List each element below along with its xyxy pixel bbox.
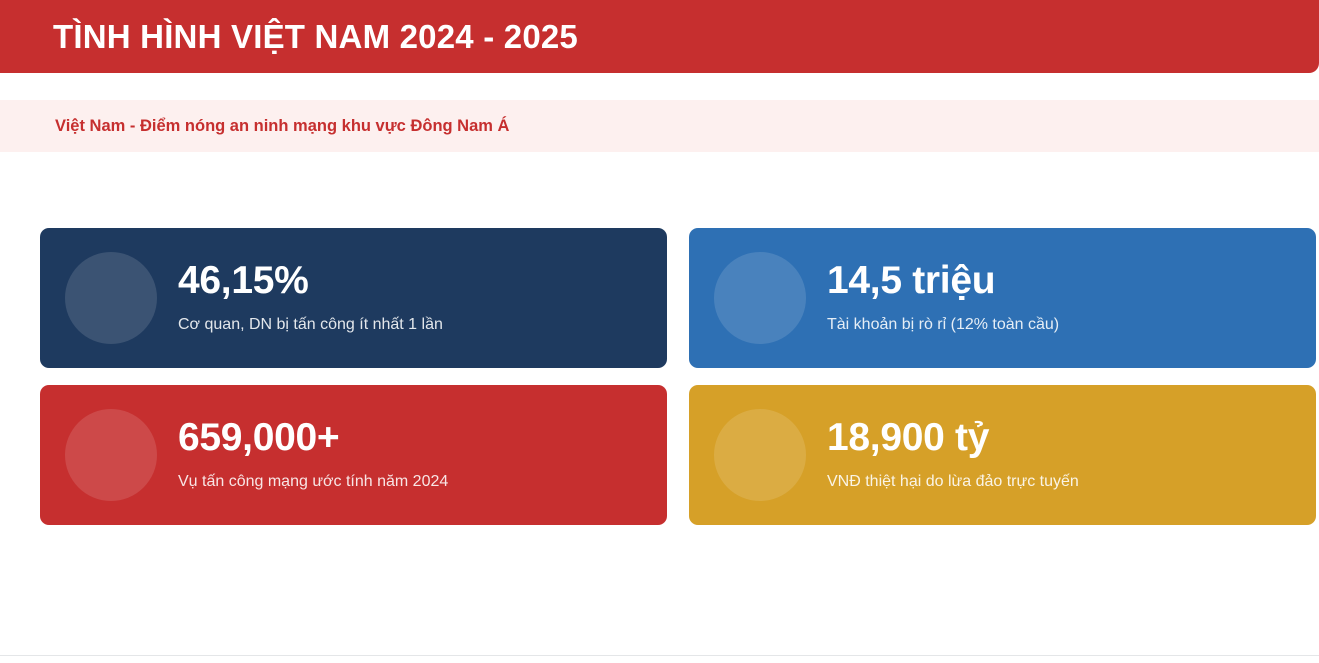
stat-label: Vụ tấn công mạng ước tính năm 2024 xyxy=(178,472,448,491)
subtitle-text: Việt Nam - Điểm nóng an ninh mạng khu vự… xyxy=(55,118,509,135)
stat-card: 18,900 tỷ VNĐ thiệt hại do lừa đảo trực … xyxy=(689,385,1316,525)
stat-value: 18,900 tỷ xyxy=(827,418,1079,459)
decorative-circle-icon xyxy=(714,252,806,344)
page-header-banner: TÌNH HÌNH VIỆT NAM 2024 - 2025 xyxy=(0,0,1319,73)
subtitle-banner: Việt Nam - Điểm nóng an ninh mạng khu vự… xyxy=(0,100,1319,152)
stat-label: Tài khoản bị rò rỉ (12% toàn cầu) xyxy=(827,315,1059,334)
decorative-circle-icon xyxy=(65,409,157,501)
page-title: TÌNH HÌNH VIỆT NAM 2024 - 2025 xyxy=(53,20,578,53)
decorative-circle-icon xyxy=(65,252,157,344)
stat-card: 14,5 triệu Tài khoản bị rò rỉ (12% toàn … xyxy=(689,228,1316,368)
bottom-divider xyxy=(0,655,1319,656)
stat-value: 659,000+ xyxy=(178,418,448,459)
stat-value: 14,5 triệu xyxy=(827,261,1059,302)
stat-card-body: 18,900 tỷ VNĐ thiệt hại do lừa đảo trực … xyxy=(827,418,1079,491)
stat-card-body: 659,000+ Vụ tấn công mạng ước tính năm 2… xyxy=(178,418,448,491)
stat-card-body: 14,5 triệu Tài khoản bị rò rỉ (12% toàn … xyxy=(827,261,1059,334)
stat-label: VNĐ thiệt hại do lừa đảo trực tuyến xyxy=(827,472,1079,491)
stat-label: Cơ quan, DN bị tấn công ít nhất 1 lần xyxy=(178,315,443,334)
stat-value: 46,15% xyxy=(178,261,443,302)
stat-card: 659,000+ Vụ tấn công mạng ước tính năm 2… xyxy=(40,385,667,525)
stat-card-body: 46,15% Cơ quan, DN bị tấn công ít nhất 1… xyxy=(178,261,443,334)
decorative-circle-icon xyxy=(714,409,806,501)
stat-card: 46,15% Cơ quan, DN bị tấn công ít nhất 1… xyxy=(40,228,667,368)
stat-card-grid: 46,15% Cơ quan, DN bị tấn công ít nhất 1… xyxy=(40,228,1279,525)
